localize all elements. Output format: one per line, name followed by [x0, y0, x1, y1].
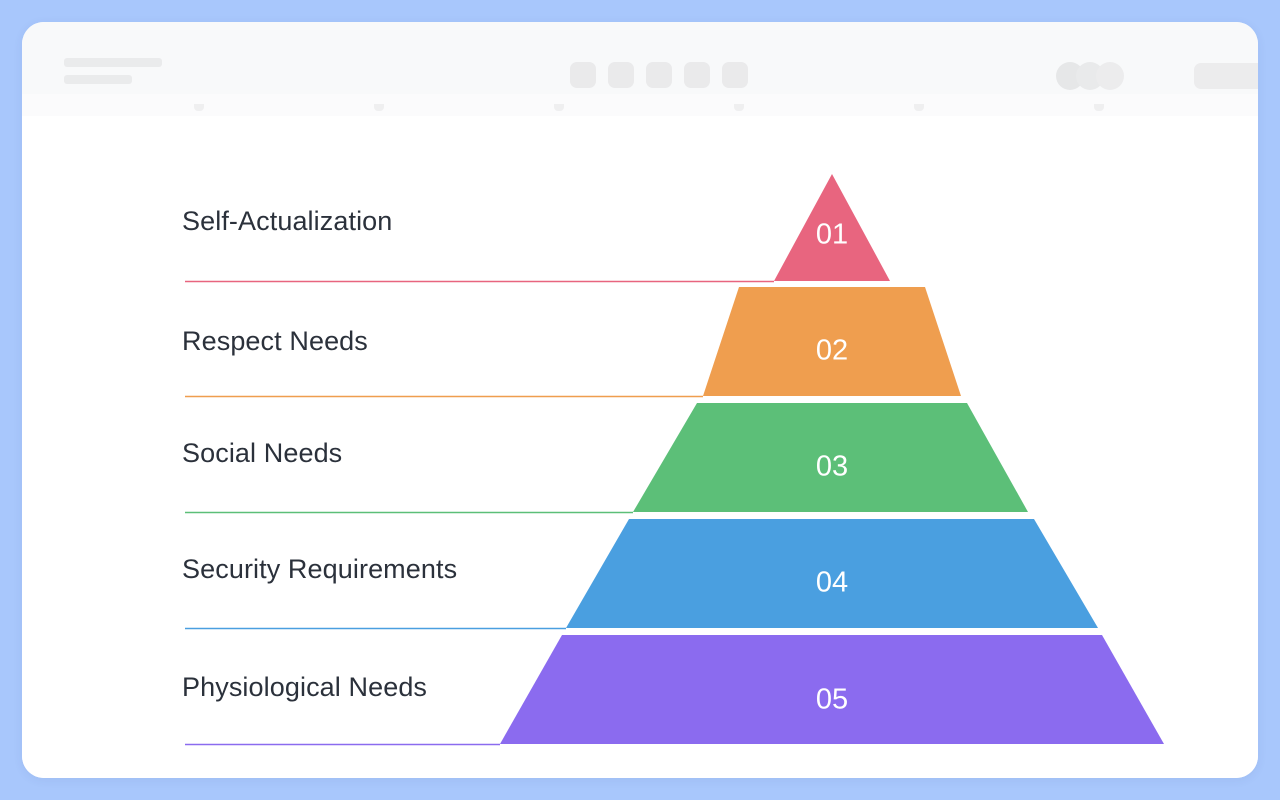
tier-number-01: 01	[816, 219, 848, 251]
toolbar-secondary-strip	[22, 94, 1258, 116]
tab-indicator-4	[734, 104, 744, 111]
toolbar-icon-3[interactable]	[646, 62, 672, 88]
tier-label-self-actualization: Self-Actualization	[182, 206, 392, 237]
avatar-3[interactable]	[1096, 62, 1124, 90]
toolbar-icon-group	[570, 62, 748, 88]
pyramid-diagram: 0102030405 Self-Actualization Respect Ne…	[22, 116, 1258, 778]
tab-indicator-1	[194, 104, 204, 111]
tier-label-social-needs: Social Needs	[182, 438, 342, 469]
browser-toolbar	[22, 22, 1258, 94]
tier-number-04: 04	[816, 567, 848, 599]
app-frame: 0102030405 Self-Actualization Respect Ne…	[0, 0, 1280, 800]
tier-number-02: 02	[816, 335, 848, 367]
tier-number-03: 03	[816, 451, 848, 483]
tab-indicator-2	[374, 104, 384, 111]
action-button-placeholder[interactable]	[1194, 63, 1258, 89]
subtitle-placeholder	[64, 75, 132, 84]
tier-label-physiological-needs: Physiological Needs	[182, 672, 427, 703]
tier-number-05: 05	[816, 684, 848, 716]
tab-indicator-3	[554, 104, 564, 111]
tier-label-respect-needs: Respect Needs	[182, 326, 368, 357]
toolbar-icon-2[interactable]	[608, 62, 634, 88]
browser-window: 0102030405 Self-Actualization Respect Ne…	[22, 22, 1258, 778]
tier-label-security-requirements: Security Requirements	[182, 554, 457, 585]
address-bar-placeholder[interactable]	[64, 58, 162, 67]
toolbar-icon-1[interactable]	[570, 62, 596, 88]
toolbar-icon-4[interactable]	[684, 62, 710, 88]
tab-indicator-6	[1094, 104, 1104, 111]
tab-indicator-5	[914, 104, 924, 111]
toolbar-icon-5[interactable]	[722, 62, 748, 88]
